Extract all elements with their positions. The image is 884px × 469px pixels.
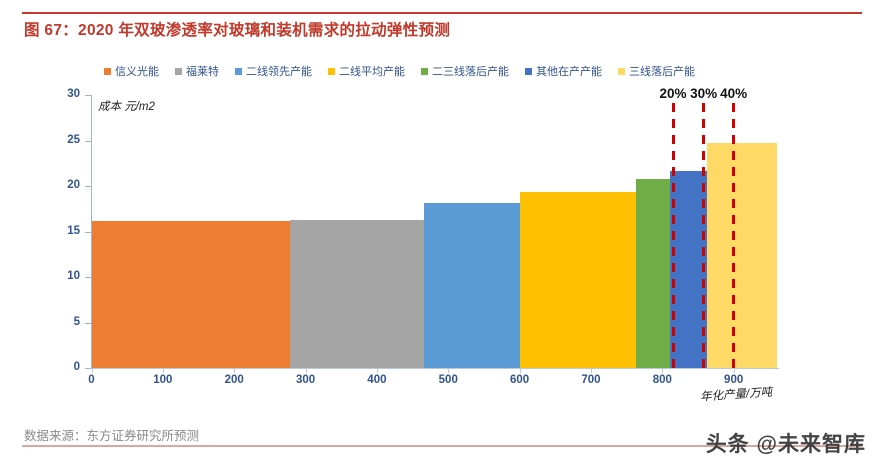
- y-axis-label: 20: [40, 179, 80, 191]
- threshold-line: [702, 103, 705, 369]
- source-note: 数据来源：东方证券研究所预测: [24, 425, 199, 444]
- y-axis-label: 25: [40, 134, 80, 146]
- x-axis-title: 年化产量/万吨: [700, 384, 773, 405]
- x-axis-line: [91, 368, 779, 369]
- threshold-line: [672, 103, 675, 369]
- bar-segment[interactable]: [92, 221, 290, 368]
- y-axis-label: 15: [40, 225, 80, 237]
- chart-page: 图 67：2020 年双玻渗透率对玻璃和装机需求的拉动弹性预测 信义光能福莱特二…: [0, 0, 884, 469]
- x-axis-label: 800: [653, 374, 672, 386]
- threshold-line: [732, 103, 735, 369]
- x-axis-tick: [591, 368, 592, 373]
- watermark: 头条 @未来智库: [706, 428, 866, 458]
- y-axis-label: 5: [40, 316, 80, 328]
- x-axis-label: 0: [88, 374, 94, 386]
- x-axis-label: 500: [439, 374, 458, 386]
- x-axis-label: 600: [510, 374, 529, 386]
- bar-segment[interactable]: [424, 203, 520, 368]
- y-axis-label: 0: [40, 361, 80, 373]
- plot-area: 成本 元/m2 年化产量/万吨 051015202530010020030040…: [0, 0, 884, 469]
- bar-segment[interactable]: [707, 143, 777, 368]
- bar-segment[interactable]: [520, 192, 636, 368]
- x-axis-tick: [520, 368, 521, 373]
- bar-segment[interactable]: [290, 220, 424, 368]
- x-axis-tick: [163, 368, 164, 373]
- x-axis-tick: [448, 368, 449, 373]
- x-axis-tick: [234, 368, 235, 373]
- threshold-label: 30%: [690, 86, 717, 101]
- y-axis-label: 30: [40, 88, 80, 100]
- bar-segment[interactable]: [636, 179, 670, 368]
- x-axis-tick: [306, 368, 307, 373]
- x-axis-label: 300: [296, 374, 315, 386]
- x-axis-label: 200: [225, 374, 244, 386]
- x-axis-label: 100: [153, 374, 172, 386]
- y-axis-title: 成本 元/m2: [98, 98, 155, 114]
- x-axis-tick: [92, 368, 93, 373]
- y-axis-tick: [85, 186, 92, 187]
- x-axis-label: 400: [367, 374, 386, 386]
- x-axis-tick: [662, 368, 663, 373]
- threshold-label: 20%: [659, 86, 686, 101]
- threshold-label: 40%: [720, 86, 747, 101]
- y-axis-label: 10: [40, 270, 80, 282]
- y-axis-tick: [85, 95, 92, 96]
- x-axis-label: 900: [724, 374, 743, 386]
- x-axis-label: 700: [581, 374, 600, 386]
- x-axis-tick: [377, 368, 378, 373]
- y-axis-tick: [85, 141, 92, 142]
